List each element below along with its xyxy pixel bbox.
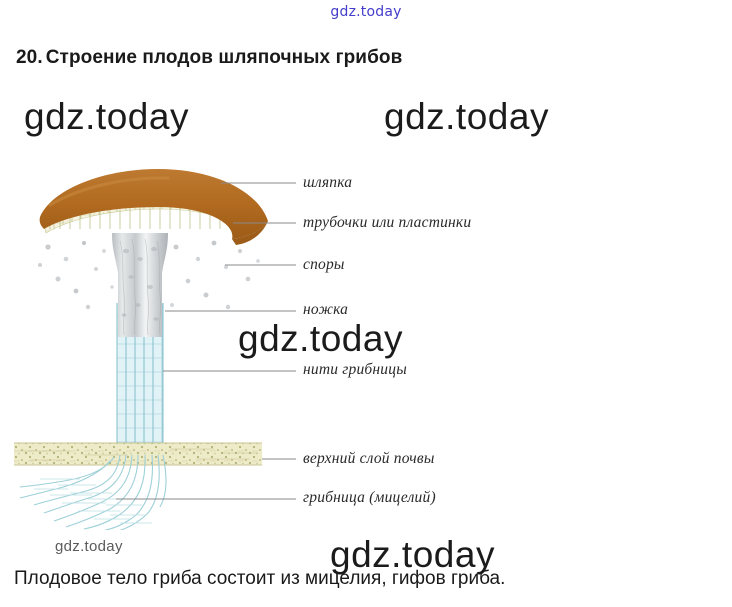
watermark-top: gdz.today: [0, 4, 732, 20]
title-text: Строение плодов шляпочных грибов: [46, 47, 403, 68]
label-soil: верхний слой почвы: [303, 450, 435, 468]
label-stem: ножка: [303, 301, 348, 319]
watermark-large-top-right: gdz.today: [384, 96, 549, 138]
label-spores: споры: [303, 256, 345, 274]
title-number: 20.: [16, 47, 43, 68]
page-title: 20.Строение плодов шляпочных грибов: [16, 47, 402, 69]
figure-caption: Плодовое тело гриба состоит из мицелия, …: [14, 568, 505, 590]
watermark-small-bottom-left: gdz.today: [55, 538, 123, 555]
label-threads: нити грибницы: [303, 361, 407, 379]
label-cap: шляпка: [303, 174, 352, 192]
mushroom-diagram: [0, 155, 732, 530]
label-tubes: трубочки или пластинки: [303, 214, 471, 232]
stem-upper: [112, 233, 168, 337]
label-mycelium: грибница (мицелий): [303, 489, 436, 507]
mycelium-threads: [20, 455, 166, 530]
watermark-large-top-left: gdz.today: [24, 96, 189, 138]
